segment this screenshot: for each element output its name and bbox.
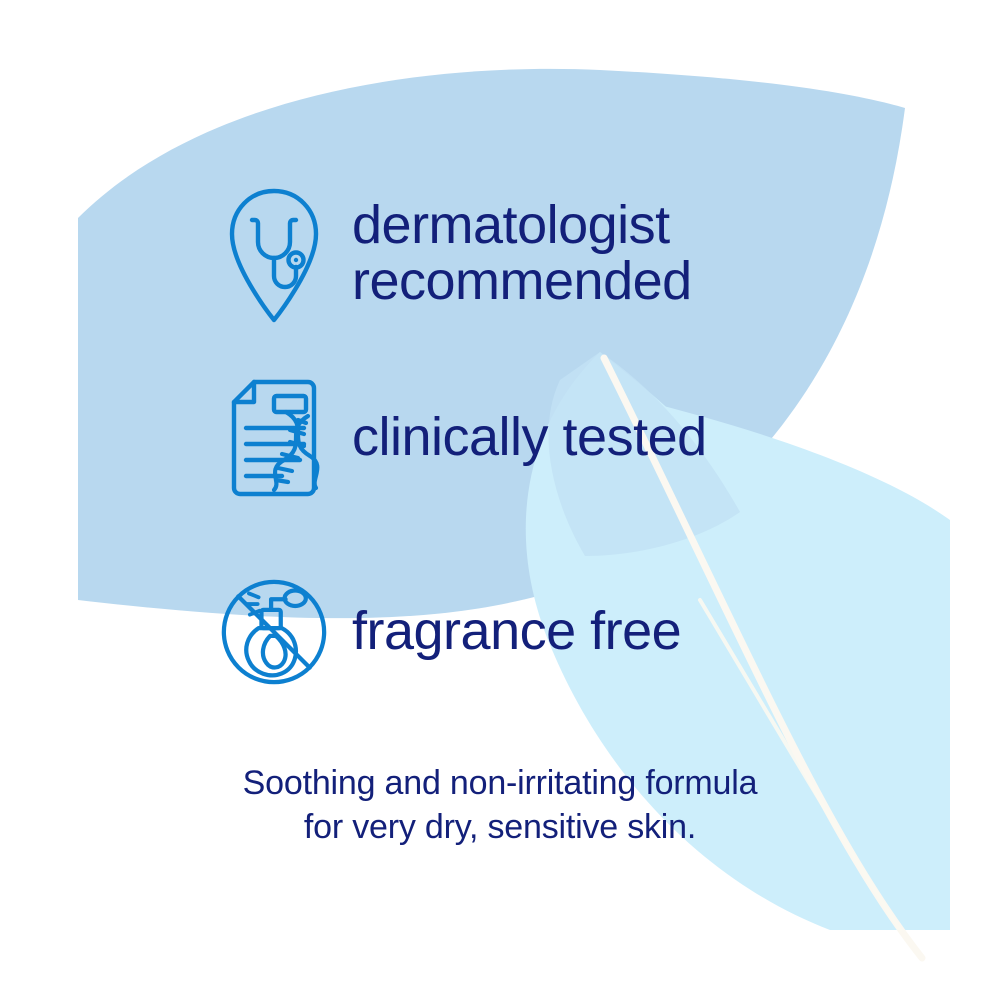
claim-row-clinically-tested: clinically tested [222,375,707,501]
claim-label-dermatologist-recommended: dermatologist recommended [352,198,692,309]
claim-row-fragrance-free: fragrance free [222,573,681,691]
product-claims-graphic: dermatologist recommended [0,0,1000,1000]
document-dna-icon [222,375,326,501]
claims-content: dermatologist recommended [0,0,1000,1000]
claim-row-dermatologist-recommended: dermatologist recommended [222,182,692,326]
claim-label-fragrance-free: fragrance free [352,604,681,660]
claim-label-clinically-tested: clinically tested [352,410,707,466]
caption-text: Soothing and non-irritating formula for … [0,762,1000,849]
stethoscope-pin-icon [222,182,326,326]
no-fragrance-icon [222,573,326,691]
